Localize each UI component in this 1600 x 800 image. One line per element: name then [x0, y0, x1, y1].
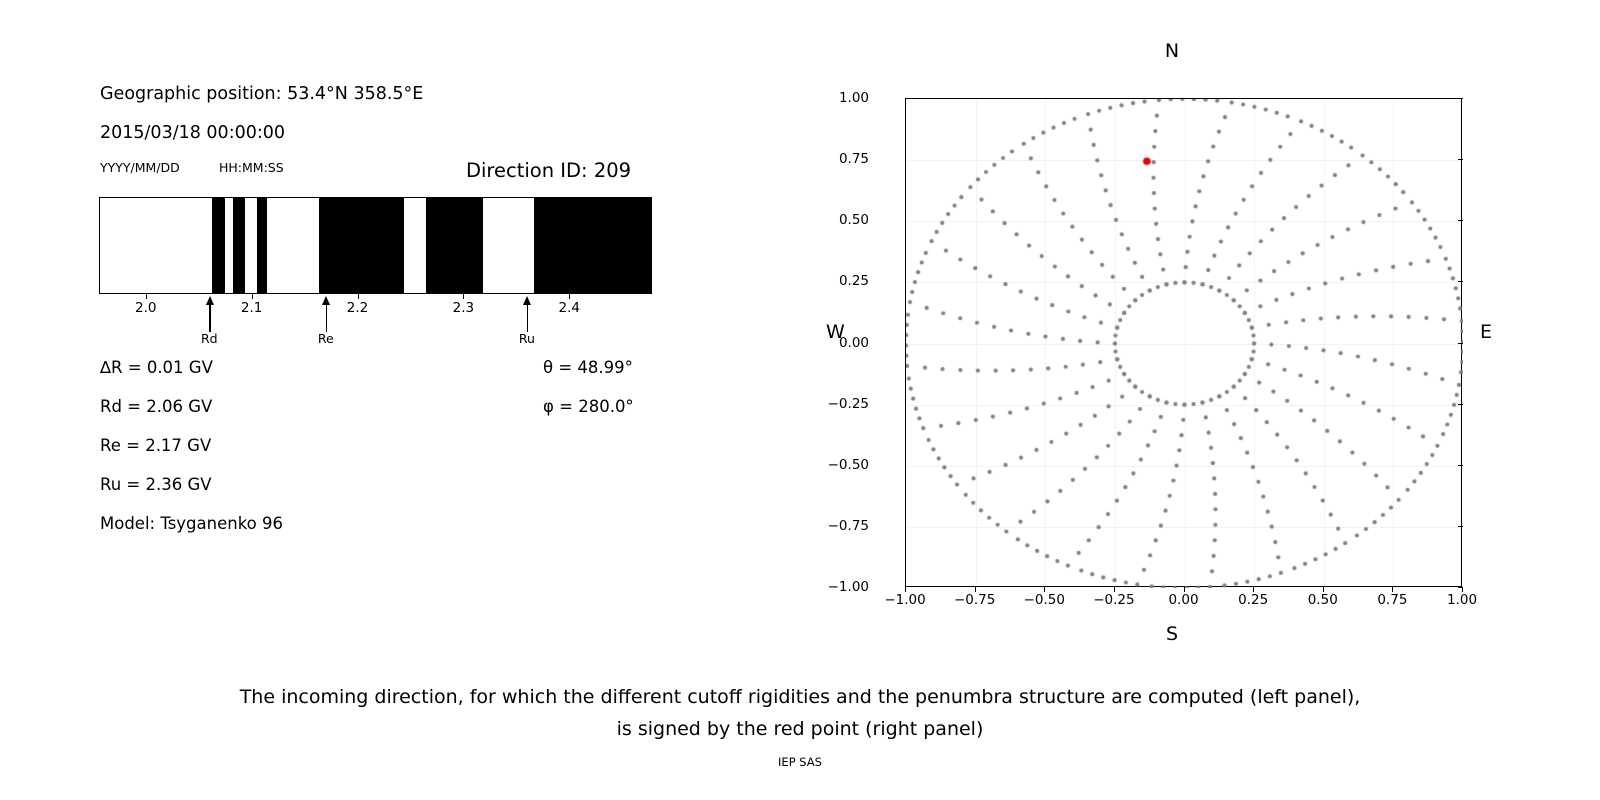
- x-tick-mark: [1392, 587, 1393, 592]
- right-panel: N S W E −1.00−0.75−0.50−0.250.000.250.50…: [820, 40, 1520, 660]
- x-tick-mark: [1044, 587, 1045, 592]
- penumbra-band: [212, 197, 225, 294]
- compass-east-label: E: [1480, 321, 1492, 343]
- y-tick-label: −0.25: [828, 396, 869, 412]
- y-tick-mark: [1458, 526, 1463, 527]
- y-tick-label: 0.25: [839, 273, 869, 289]
- penumbra-band: [426, 197, 483, 294]
- y-tick-mark: [1458, 281, 1463, 282]
- result-rd: Rd = 2.06 GV: [100, 397, 212, 416]
- penumbra-tick-label: 2.3: [453, 300, 474, 316]
- left-panel: Geographic position: 53.4°N 358.5°E 2015…: [0, 0, 760, 660]
- penumbra-marker-label: Re: [318, 331, 334, 346]
- compass-south-label: S: [1166, 623, 1178, 645]
- penumbra-tick-mark: [146, 294, 147, 299]
- y-tick-mark: [1458, 159, 1463, 160]
- x-tick-mark: [975, 587, 976, 592]
- x-tick-mark: [1253, 587, 1254, 592]
- penumbra-tick-mark: [252, 294, 253, 299]
- y-tick-label: −0.75: [828, 518, 869, 534]
- y-tick-label: −0.50: [828, 457, 869, 473]
- penumbra-band: [319, 197, 404, 294]
- arrow-up-icon: [206, 296, 214, 305]
- x-tick-mark: [905, 587, 906, 592]
- result-phi: φ = 280.0°: [543, 397, 634, 416]
- penumbra-band: [534, 197, 652, 294]
- arrow-up-icon: [322, 296, 330, 305]
- x-tick-label: −0.25: [1093, 592, 1134, 608]
- figure-caption: The incoming direction, for which the di…: [0, 682, 1600, 746]
- sky-map-scatter-points: [906, 99, 1463, 588]
- result-delta-r: ∆R = 0.01 GV: [100, 358, 213, 377]
- arrow-shaft: [209, 303, 210, 332]
- penumbra-band: [233, 197, 245, 294]
- penumbra-tick-mark: [569, 294, 570, 299]
- y-tick-mark: [1458, 465, 1463, 466]
- penumbra-tick-mark: [463, 294, 464, 299]
- datetime-text: 2015/03/18 00:00:00: [100, 123, 285, 143]
- x-tick-label: 0.50: [1308, 592, 1338, 608]
- caption-line-2: is signed by the red point (right panel): [0, 714, 1600, 746]
- x-tick-label: 0.75: [1377, 592, 1407, 608]
- x-tick-mark: [1184, 587, 1185, 592]
- x-tick-label: −0.75: [954, 592, 995, 608]
- penumbra-tick-label: 2.4: [558, 300, 579, 316]
- y-tick-mark: [1458, 343, 1463, 344]
- arrow-up-icon: [523, 296, 531, 305]
- compass-north-label: N: [1165, 40, 1179, 62]
- result-theta: θ = 48.99°: [543, 358, 633, 377]
- penumbra-tick-label: 2.2: [347, 300, 368, 316]
- date-format-hint: YYYY/MM/DD: [100, 160, 180, 175]
- direction-id-text: Direction ID: 209: [466, 159, 631, 182]
- penumbra-tick-label: 2.0: [135, 300, 156, 316]
- arrow-shaft: [527, 303, 528, 332]
- penumbra-chart: [99, 197, 652, 294]
- y-tick-label: −1.00: [828, 579, 869, 595]
- footer-credit: IEP SAS: [0, 755, 1600, 769]
- caption-line-1: The incoming direction, for which the di…: [0, 682, 1600, 714]
- x-tick-label: 0.00: [1168, 592, 1198, 608]
- sky-map-plot-area[interactable]: [905, 98, 1462, 587]
- y-tick-mark: [1458, 404, 1463, 405]
- x-tick-mark: [1323, 587, 1324, 592]
- x-tick-mark: [1114, 587, 1115, 592]
- penumbra-marker-label: Rd: [201, 331, 218, 346]
- y-tick-mark: [1458, 98, 1463, 99]
- x-tick-label: −0.50: [1024, 592, 1065, 608]
- x-tick-label: 0.25: [1238, 592, 1268, 608]
- y-tick-label: 0.00: [839, 335, 869, 351]
- arrow-shaft: [326, 303, 327, 332]
- result-model: Model: Tsyganenko 96: [100, 514, 283, 533]
- time-format-hint: HH:MM:SS: [219, 160, 284, 175]
- x-tick-label: −1.00: [884, 592, 925, 608]
- penumbra-band: [257, 197, 267, 294]
- x-tick-label: 1.00: [1447, 592, 1477, 608]
- result-re: Re = 2.17 GV: [100, 436, 211, 455]
- y-tick-mark: [1458, 220, 1463, 221]
- penumbra-marker-label: Ru: [519, 331, 535, 346]
- penumbra-tick-mark: [358, 294, 359, 299]
- geographic-position-text: Geographic position: 53.4°N 358.5°E: [100, 84, 423, 104]
- y-tick-label: 1.00: [839, 90, 869, 106]
- penumbra-tick-label: 2.1: [241, 300, 262, 316]
- x-tick-mark: [1462, 587, 1463, 592]
- result-ru: Ru = 2.36 GV: [100, 475, 212, 494]
- y-tick-label: 0.75: [839, 151, 869, 167]
- y-tick-label: 0.50: [839, 212, 869, 228]
